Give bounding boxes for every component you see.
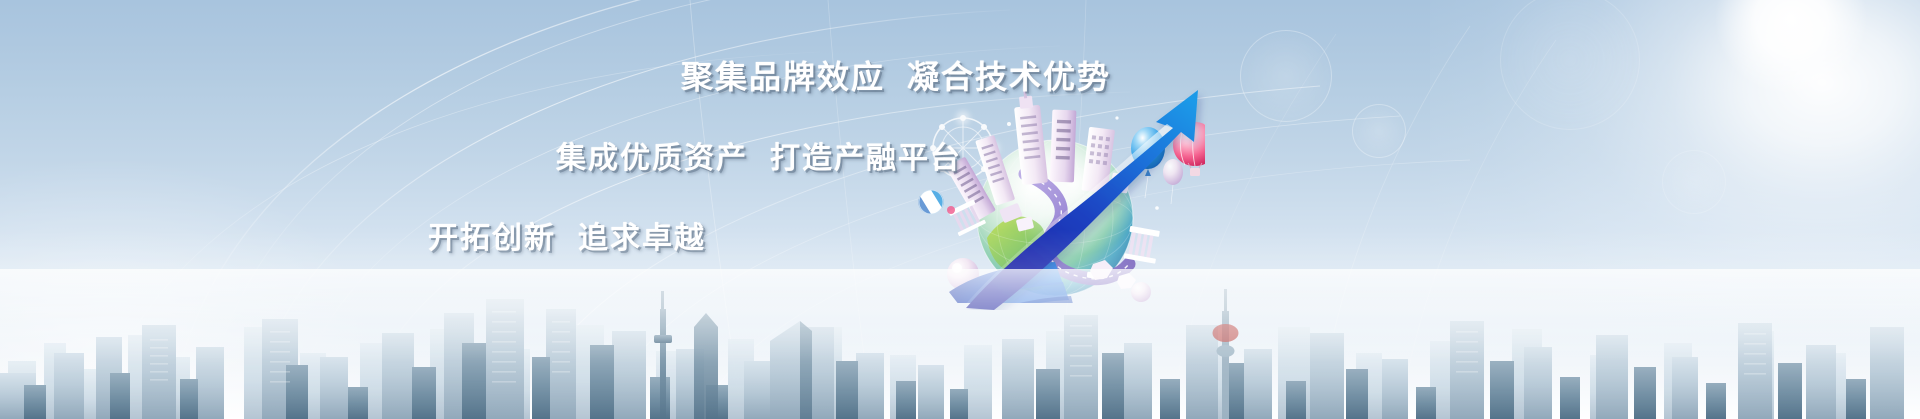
hero-banner: 聚集品牌效应凝合技术优势 集成优质资产打造产融平台 开拓创新追求卓越: [0, 0, 1920, 419]
beachball-icon: [918, 190, 955, 214]
city-skyline-silhouette: [0, 269, 1920, 419]
